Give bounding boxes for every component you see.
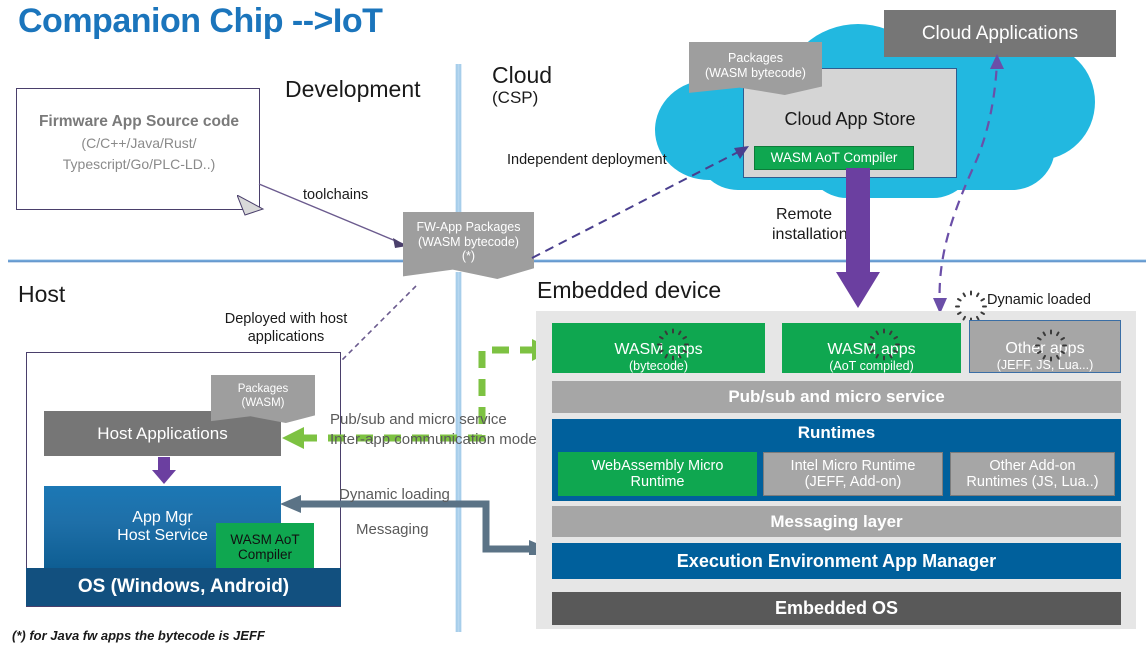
spinner-icon xyxy=(662,329,684,347)
embedded-pubsub-label: Pub/sub and micro service xyxy=(728,387,944,406)
fw-app-packages-line2: (WASM bytecode) xyxy=(418,235,519,250)
spinner-icon xyxy=(1040,329,1062,348)
section-embedded: Embedded device xyxy=(537,277,721,304)
embedded-runtimes-title: Runtimes xyxy=(552,419,1121,443)
section-cloud-label: Cloud xyxy=(492,62,552,88)
embedded-messaging-layer: Messaging layer xyxy=(552,506,1121,537)
cloud-apps-dashed-arrow xyxy=(915,52,1025,314)
embedded-pubsub-bar: Pub/sub and micro service xyxy=(552,381,1121,413)
host-applications-label: Host Applications xyxy=(97,424,227,443)
wasm-aot-compiler-cloud-label: WASM AoT Compiler xyxy=(771,150,898,165)
app-mgr-line2: Host Service xyxy=(117,527,208,545)
remote-installation-label: Remote installation xyxy=(772,205,836,245)
fw-app-packages-line1: FW-App Packages xyxy=(417,220,521,235)
firmware-source-code-box: Firmware App Source code (C/C++/Java/Rus… xyxy=(16,88,260,210)
pubsub-label: Pub/sub and micro service Inter-app comm… xyxy=(330,410,548,451)
firmware-source-line2: (C/C++/Java/Rust/ xyxy=(17,133,261,154)
embedded-runtime-1-line1: Intel Micro Runtime xyxy=(791,458,916,474)
wasm-aot-compiler-cloud: WASM AoT Compiler xyxy=(754,146,914,170)
pubsub-line1: Pub/sub and micro service xyxy=(330,410,548,430)
embedded-app-1: WASM apps (AoT compiled) xyxy=(782,323,961,373)
cloud-packages-callout: Packages (WASM bytecode) xyxy=(689,42,822,95)
dynamic-loaded-label: Dynamic loaded xyxy=(987,291,1091,309)
section-host-label: Host xyxy=(18,281,65,307)
host-internal-arrow xyxy=(151,457,177,485)
embedded-app-0: WASM apps (bytecode) xyxy=(552,323,765,373)
app-mgr-line1: App Mgr xyxy=(132,509,192,527)
embedded-app-0-line2: (bytecode) xyxy=(629,359,688,373)
fw-app-packages-line3: (*) xyxy=(462,249,475,264)
embedded-runtime-1-line2: (JEFF, Add-on) xyxy=(805,474,902,490)
remote-installation-arrow xyxy=(835,168,881,313)
host-packages-line1: Packages xyxy=(238,383,289,397)
spinner-icon xyxy=(873,329,895,347)
messaging-label: Messaging xyxy=(356,521,429,540)
remote-installation-line2: installation xyxy=(772,225,836,245)
pubsub-line2: Inter-app communication models xyxy=(330,430,548,450)
embedded-os-box: Embedded OS xyxy=(552,592,1121,625)
embedded-runtime-0-line1: WebAssembly Micro xyxy=(592,458,724,474)
embedded-messaging-label: Messaging layer xyxy=(770,512,902,531)
fw-app-packages-callout: FW-App Packages (WASM bytecode) (*) xyxy=(403,212,534,279)
host-os-box: OS (Windows, Android) xyxy=(26,568,341,606)
host-os-label: OS (Windows, Android) xyxy=(78,576,289,597)
embedded-os-label: Embedded OS xyxy=(775,598,898,618)
dynamic-loading-label: Dynamic loading xyxy=(339,486,450,505)
embedded-runtime-0-line2: Runtime xyxy=(631,474,685,490)
embedded-runtime-2-line1: Other Add-on xyxy=(989,458,1075,474)
section-cloud-sub: (CSP) xyxy=(492,89,552,107)
embedded-runtime-0: WebAssembly Micro Runtime xyxy=(558,452,757,496)
embedded-runtime-2-line2: Runtimes (JS, Lua..) xyxy=(966,474,1098,490)
dynamic-loaded-legend: Dynamic loaded xyxy=(960,290,1091,310)
remote-installation-line1: Remote xyxy=(772,205,836,225)
cloud-packages-line1: Packages xyxy=(728,51,783,66)
cloud-applications-label: Cloud Applications xyxy=(922,23,1078,44)
section-development-label: Development xyxy=(285,76,421,102)
section-embedded-label: Embedded device xyxy=(537,277,721,303)
spinner-icon xyxy=(960,290,982,310)
section-cloud: Cloud (CSP) xyxy=(492,62,552,107)
embedded-app-2: Other apps (JEFF, JS, Lua...) xyxy=(969,320,1121,373)
footnote: (*) for Java fw apps the bytecode is JEF… xyxy=(12,628,265,643)
independent-deployment-arrow xyxy=(528,138,756,266)
embedded-app-2-line2: (JEFF, JS, Lua...) xyxy=(997,358,1094,372)
embedded-runtime-1: Intel Micro Runtime (JEFF, Add-on) xyxy=(763,452,943,496)
section-development: Development xyxy=(285,76,421,103)
page-title: Companion Chip -->IoT xyxy=(18,2,382,41)
section-host: Host xyxy=(18,281,65,308)
embedded-exec-env-label: Execution Environment App Manager xyxy=(677,551,996,571)
host-applications-box: Host Applications xyxy=(44,411,281,456)
firmware-source-line3: Typescript/Go/PLC-LD..) xyxy=(17,154,261,175)
embedded-exec-env-app-manager: Execution Environment App Manager xyxy=(552,543,1121,579)
firmware-source-title: Firmware App Source code xyxy=(17,111,261,133)
cloud-applications-box: Cloud Applications xyxy=(884,10,1116,57)
host-packages-line2: (WASM) xyxy=(241,397,284,411)
embedded-runtime-2: Other Add-on Runtimes (JS, Lua..) xyxy=(950,452,1115,496)
cloud-packages-line2: (WASM bytecode) xyxy=(705,66,806,81)
embedded-app-1-line2: (AoT compiled) xyxy=(829,359,914,373)
toolchains-arrow xyxy=(255,180,415,260)
